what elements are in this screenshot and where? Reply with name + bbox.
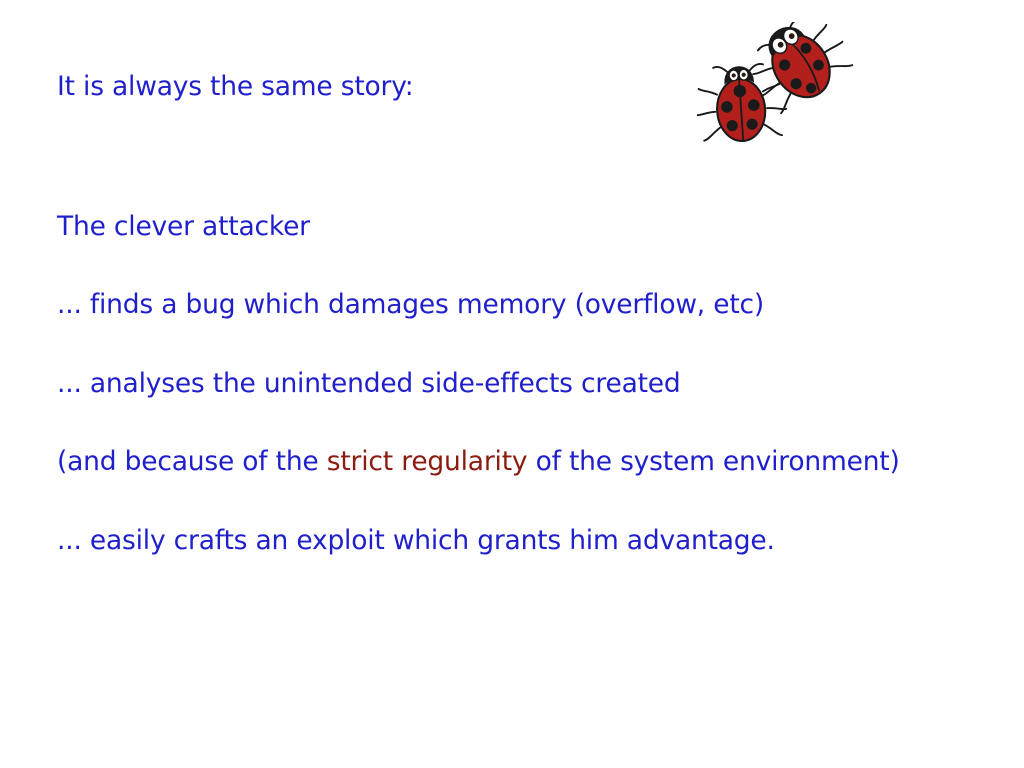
- parenthetical-highlight: strict regularity: [327, 446, 528, 477]
- slide-canvas: It is always the same story: The clever …: [0, 0, 1024, 768]
- text-line-bullet-2: ... analyses the unintended side-effects…: [57, 371, 977, 398]
- parenthetical-after: of the system environment): [527, 446, 899, 477]
- parenthetical-before: (and because of the: [57, 446, 327, 477]
- ladybug-figure: [697, 22, 857, 154]
- text-line-attacker: The clever attacker: [57, 214, 977, 241]
- text-line-bullet-1: ... finds a bug which damages memory (ov…: [57, 292, 977, 319]
- text-line-parenthetical: (and because of the strict regularity of…: [57, 449, 977, 476]
- text-line-bullet-4: ... easily crafts an exploit which grant…: [57, 528, 977, 555]
- ladybug-illustration: [697, 22, 857, 154]
